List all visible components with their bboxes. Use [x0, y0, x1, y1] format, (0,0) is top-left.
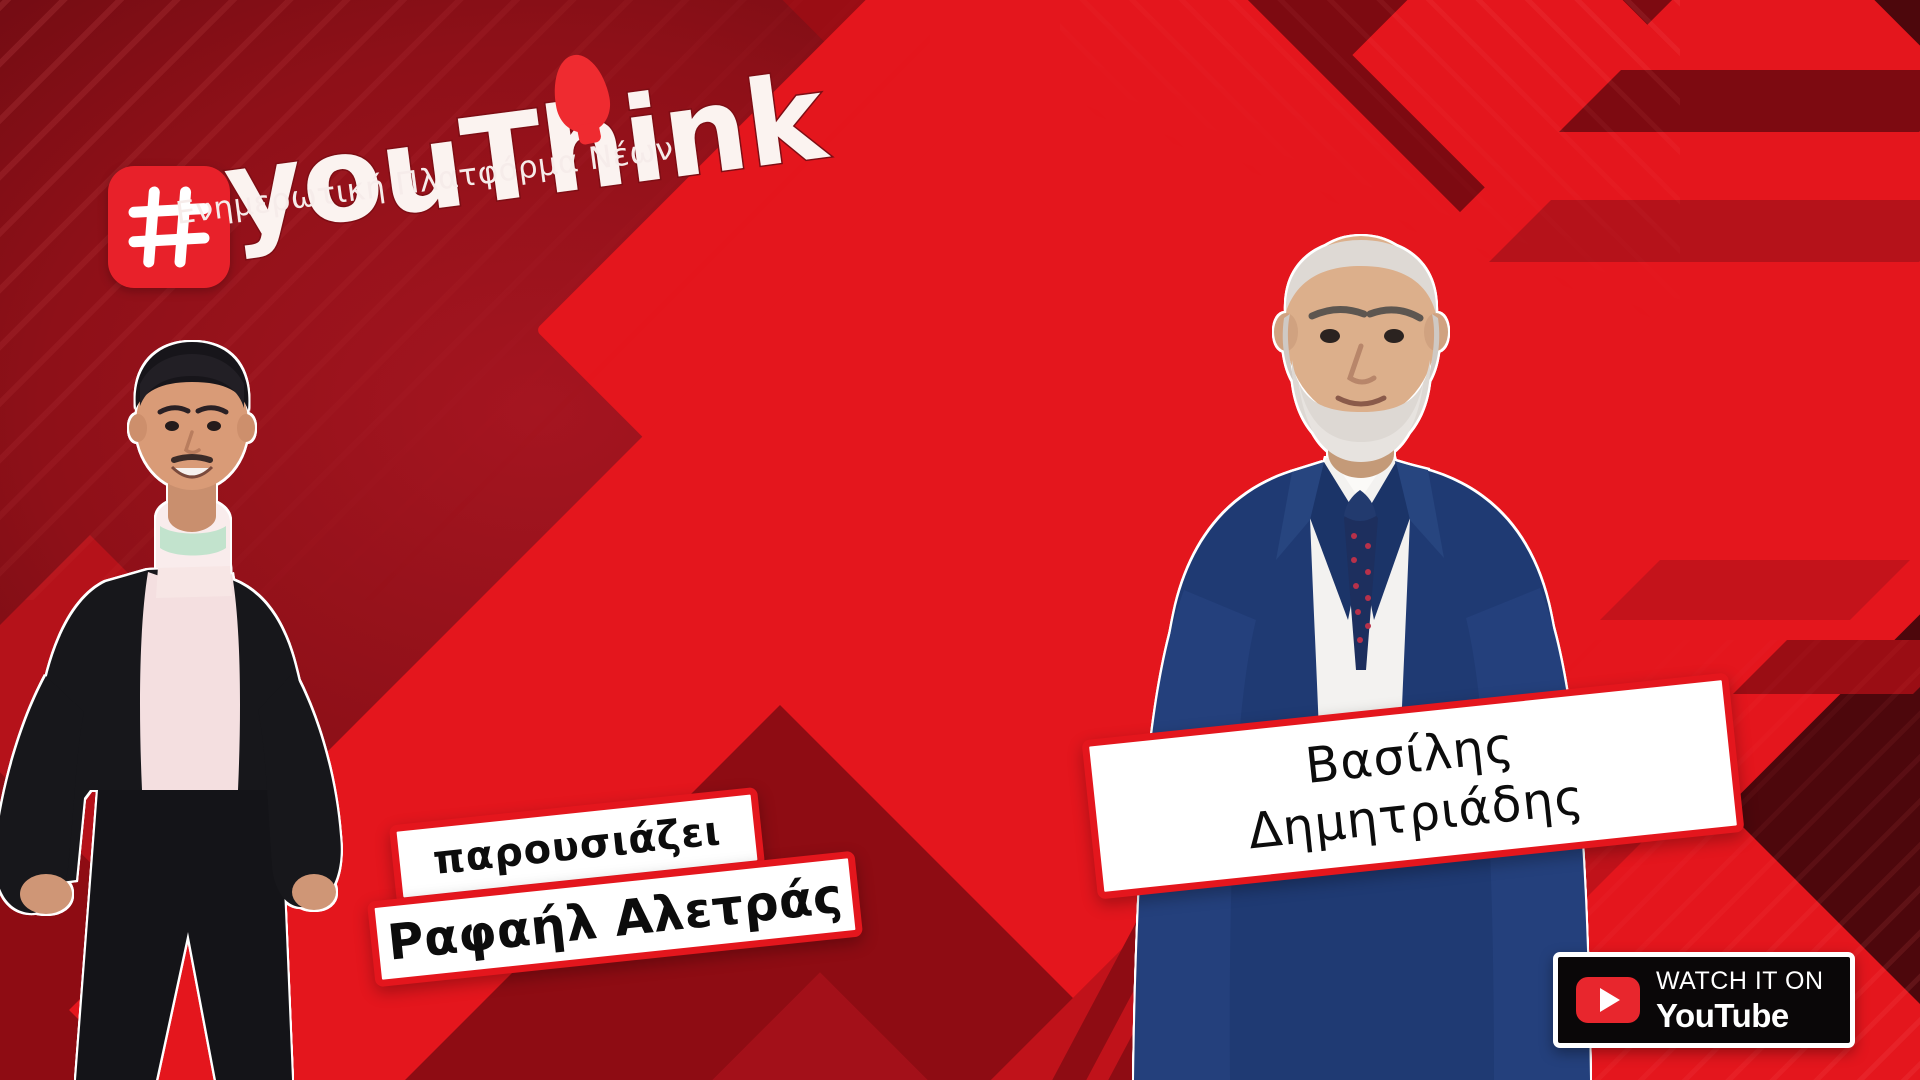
- watch-on-youtube-badge[interactable]: WATCH IT ON YouTube: [1553, 952, 1855, 1048]
- youtube-play-icon: [1576, 977, 1640, 1023]
- youtube-badge-line2: YouTube: [1656, 999, 1824, 1032]
- thumbnail-canvas: youThink Ενημερωτική Πλατφόρμα Νέων παρο…: [0, 0, 1920, 1080]
- guest-last-name: Δημητριάδης: [1246, 770, 1587, 860]
- youtube-badge-text: WATCH IT ON YouTube: [1656, 969, 1824, 1032]
- youtube-badge-line1: WATCH IT ON: [1656, 969, 1824, 994]
- guest-photo: [1080, 200, 1640, 1080]
- host-photo: [0, 320, 400, 1080]
